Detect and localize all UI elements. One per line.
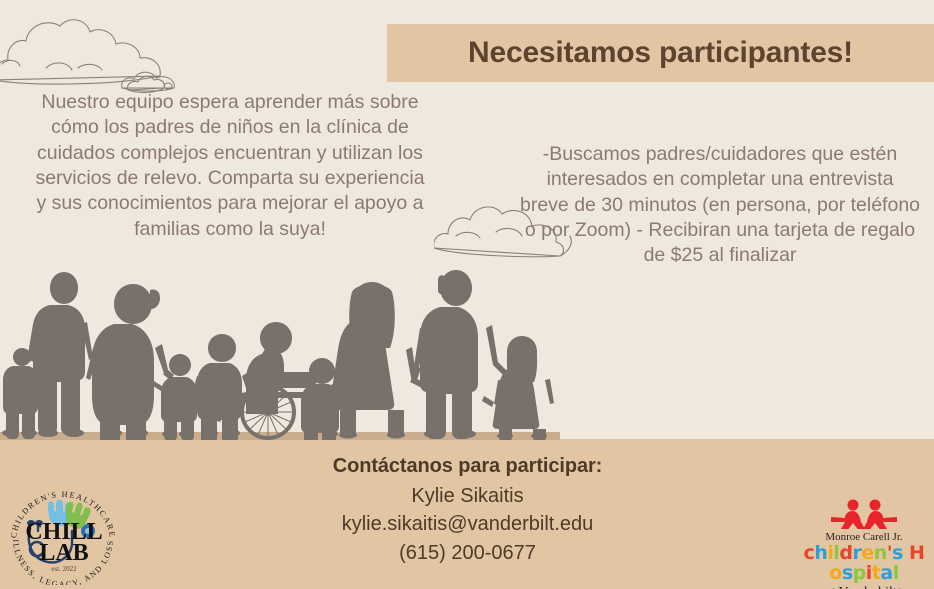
- title-banner: Necesitamos participantes!: [387, 24, 934, 82]
- at-vanderbilt-text: at Vanderbilt®: [800, 585, 928, 589]
- flyer-canvas: Necesitamos participantes! Nuestro equip…: [0, 0, 934, 589]
- at-vanderbilt-label: at Vanderbilt: [825, 585, 897, 589]
- two-children-figures-icon: [800, 499, 928, 529]
- chill-lab-logo: CHILDREN'S HEALTHCARE ILLNESS, LEGACY, A…: [4, 487, 122, 585]
- page-title: Necesitamos participantes!: [468, 36, 853, 70]
- chill-wordmark-line2: LAB: [39, 540, 88, 566]
- family-silhouettes-illustration: [0, 262, 560, 440]
- criteria-paragraph: -Buscamos padres/cuidadores que estén in…: [520, 142, 920, 269]
- intro-paragraph: Nuestro equipo espera aprender más sobre…: [34, 90, 426, 242]
- childrens-hospital-wordmark: children's Hospital: [800, 544, 928, 584]
- contact-name: Kylie Sikaitis: [195, 482, 740, 510]
- contact-email[interactable]: kylie.sikaitis@vanderbilt.edu: [195, 510, 740, 538]
- contact-phone[interactable]: (615) 200-0677: [195, 539, 740, 567]
- vanderbilt-childrens-hospital-logo: Monroe Carell Jr. children's Hospital at…: [800, 499, 928, 583]
- contact-block: Contáctanos para participar: Kylie Sikai…: [195, 455, 740, 567]
- chill-established: est. 2022: [51, 565, 77, 573]
- contact-heading: Contáctanos para participar:: [195, 455, 740, 478]
